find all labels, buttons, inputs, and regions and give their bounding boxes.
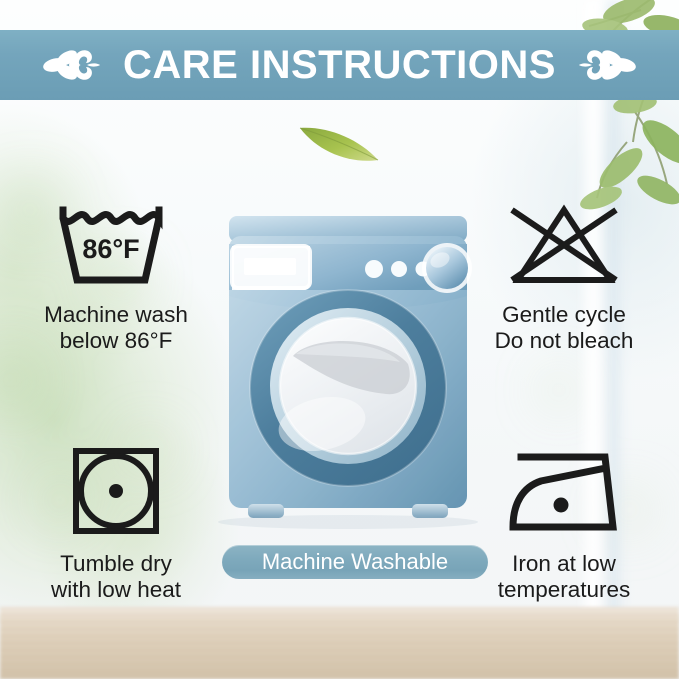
machine-washable-badge: Machine Washable — [222, 545, 488, 579]
accent-leaf-icon — [296, 118, 382, 168]
header-banner: CARE INSTRUCTIONS — [0, 30, 679, 100]
iron-low-heat-icon — [505, 447, 623, 539]
fleur-de-lis-ornament-left-icon — [43, 44, 101, 86]
caption-line-2: with low heat — [8, 577, 224, 603]
wooden-table-surface — [0, 607, 679, 679]
caption-line-1: Tumble dry — [8, 551, 224, 577]
no-bleach-icon-wrap — [456, 196, 672, 292]
care-instructions-poster: CARE INSTRUCTIONS 86°F Machine wash — [0, 0, 679, 679]
tumble-dry-caption: Tumble dry with low heat — [8, 551, 224, 603]
wash-tub-icon: 86°F — [53, 200, 179, 292]
tumble-dry-icon-wrap — [8, 443, 224, 539]
care-item-gentle-cycle-no-bleach: Gentle cycle Do not bleach — [456, 196, 672, 354]
care-item-iron-low: Iron at low temperatures — [456, 443, 672, 603]
caption-line-2: below 86°F — [8, 328, 224, 354]
caption-line-1: Iron at low — [456, 551, 672, 577]
badge-label: Machine Washable — [262, 551, 448, 573]
no-bleach-caption: Gentle cycle Do not bleach — [456, 302, 672, 354]
tumble-dry-low-icon — [68, 443, 164, 539]
wash-temperature-label: 86°F — [82, 234, 139, 264]
machine-wash-caption: Machine wash below 86°F — [8, 302, 224, 354]
caption-line-1: Machine wash — [8, 302, 224, 328]
caption-line-2: Do not bleach — [456, 328, 672, 354]
caption-line-1: Gentle cycle — [456, 302, 672, 328]
machine-wash-icon-wrap: 86°F — [8, 196, 224, 292]
washing-machine-illustration — [218, 196, 478, 536]
iron-icon-wrap — [456, 443, 672, 539]
page-title: CARE INSTRUCTIONS — [123, 45, 556, 85]
care-item-tumble-dry: Tumble dry with low heat — [8, 443, 224, 603]
fleur-de-lis-ornament-right-icon — [578, 44, 636, 86]
do-not-bleach-triangle-icon — [498, 200, 630, 292]
iron-caption: Iron at low temperatures — [456, 551, 672, 603]
care-item-machine-wash: 86°F Machine wash below 86°F — [8, 196, 224, 354]
caption-line-2: temperatures — [456, 577, 672, 603]
